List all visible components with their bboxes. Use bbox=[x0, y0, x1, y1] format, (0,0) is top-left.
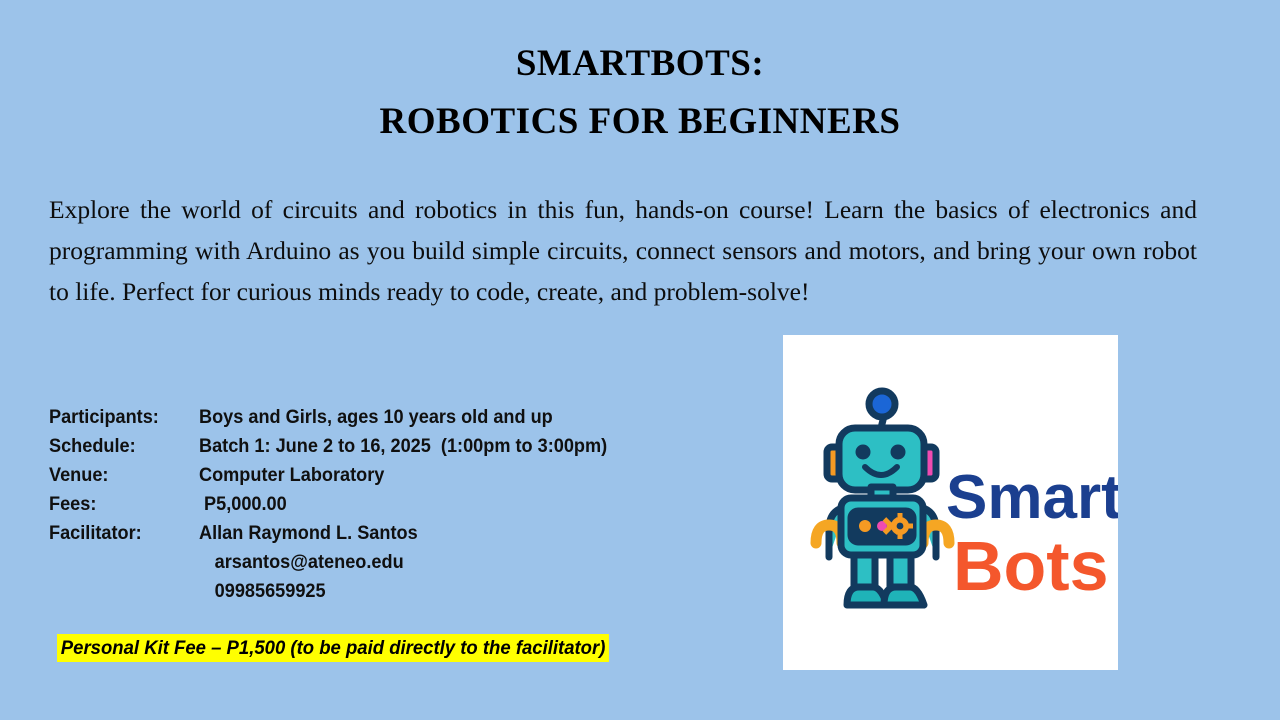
detail-label-participants: Participants: bbox=[49, 406, 189, 429]
smartbots-logo-panel: Smart Bots bbox=[783, 335, 1118, 670]
detail-label-facilitator: Facilitator: bbox=[49, 522, 189, 545]
robot-leg-right bbox=[890, 555, 911, 587]
logo-wordmark-bots: Bots bbox=[953, 527, 1109, 605]
detail-value-schedule: Batch 1: June 2 to 16, 2025 (1:00pm to 3… bbox=[199, 435, 692, 458]
title-line-1: SMARTBOTS: bbox=[0, 42, 1280, 86]
robot-head bbox=[839, 428, 924, 490]
detail-row-participants: Participants: Boys and Girls, ages 10 ye… bbox=[49, 406, 729, 435]
detail-value-facilitator-email: arsantos@ateneo.edu bbox=[199, 551, 692, 574]
robot-leg-left bbox=[854, 555, 875, 587]
robot-eye-left bbox=[856, 445, 871, 460]
detail-row-fees: Fees: P5,000.00 bbox=[49, 493, 729, 522]
robot-antenna-ball bbox=[869, 391, 895, 417]
detail-value-fees: P5,000.00 bbox=[199, 493, 692, 516]
detail-label-schedule: Schedule: bbox=[49, 435, 189, 458]
detail-row-facilitator-phone: 09985659925 bbox=[49, 580, 729, 609]
detail-row-facilitator-email: arsantos@ateneo.edu bbox=[49, 551, 729, 580]
detail-label-venue: Venue: bbox=[49, 464, 189, 487]
detail-value-participants: Boys and Girls, ages 10 years old and up bbox=[199, 406, 692, 429]
robot-foot-right bbox=[884, 587, 924, 605]
detail-value-facilitator: Allan Raymond L. Santos bbox=[199, 522, 692, 545]
kit-fee-note-wrapper: Personal Kit Fee – P1,500 (to be paid di… bbox=[57, 634, 638, 662]
robot-indicator-orange bbox=[859, 520, 871, 532]
course-description: Explore the world of circuits and roboti… bbox=[49, 189, 1197, 312]
detail-row-facilitator: Facilitator: Allan Raymond L. Santos bbox=[49, 522, 729, 551]
logo-wordmark-smart: Smart bbox=[946, 463, 1118, 532]
detail-label-fees: Fees: bbox=[49, 493, 189, 516]
course-details-list: Participants: Boys and Girls, ages 10 ye… bbox=[49, 406, 729, 609]
slide-canvas: SMARTBOTS: ROBOTICS FOR BEGINNERS Explor… bbox=[0, 0, 1280, 720]
detail-value-venue: Computer Laboratory bbox=[199, 464, 692, 487]
page-title: SMARTBOTS: ROBOTICS FOR BEGINNERS bbox=[0, 42, 1280, 144]
title-line-2: ROBOTICS FOR BEGINNERS bbox=[0, 100, 1280, 144]
detail-value-facilitator-phone: 09985659925 bbox=[199, 580, 692, 603]
smartbots-logo-image: Smart Bots bbox=[783, 335, 1118, 670]
robot-eye-right bbox=[891, 445, 906, 460]
detail-row-venue: Venue: Computer Laboratory bbox=[49, 464, 729, 493]
kit-fee-note: Personal Kit Fee – P1,500 (to be paid di… bbox=[57, 634, 609, 662]
detail-row-schedule: Schedule: Batch 1: June 2 to 16, 2025 (1… bbox=[49, 435, 729, 464]
